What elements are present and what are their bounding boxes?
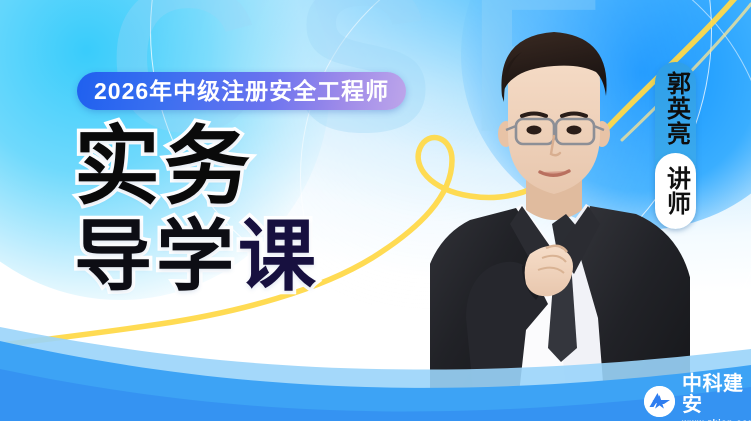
instructor-role-chip: 讲师 xyxy=(655,153,696,229)
instructor-role: 讲师 xyxy=(663,166,689,216)
brand-text: 中科建安 www.zkjan.com xyxy=(682,374,751,421)
headline-line-2: 导学课 xyxy=(74,219,474,294)
course-exam-badge-label: 2026年中级注册安全工程师 xyxy=(94,80,389,103)
course-exam-badge: 2026年中级注册安全工程师 xyxy=(77,72,406,110)
brand-url: www.zkjan.com xyxy=(682,417,751,421)
course-poster: CSE xyxy=(0,0,751,421)
bottom-waves xyxy=(0,291,751,421)
zkjan-star-icon xyxy=(644,386,675,417)
instructor-name: 郭英亮 xyxy=(663,71,689,146)
brand-name: 中科建安 xyxy=(682,374,751,416)
headline-line-2-head: 导学 xyxy=(74,212,238,300)
headline: 实务 导学课 xyxy=(74,126,474,293)
headline-line-1: 实务 xyxy=(74,126,474,209)
headline-line-2-tail: 课 xyxy=(238,212,320,300)
brand-logo: 中科建安 www.zkjan.com xyxy=(644,374,751,421)
instructor-badge: 郭英亮 讲师 xyxy=(655,62,696,229)
